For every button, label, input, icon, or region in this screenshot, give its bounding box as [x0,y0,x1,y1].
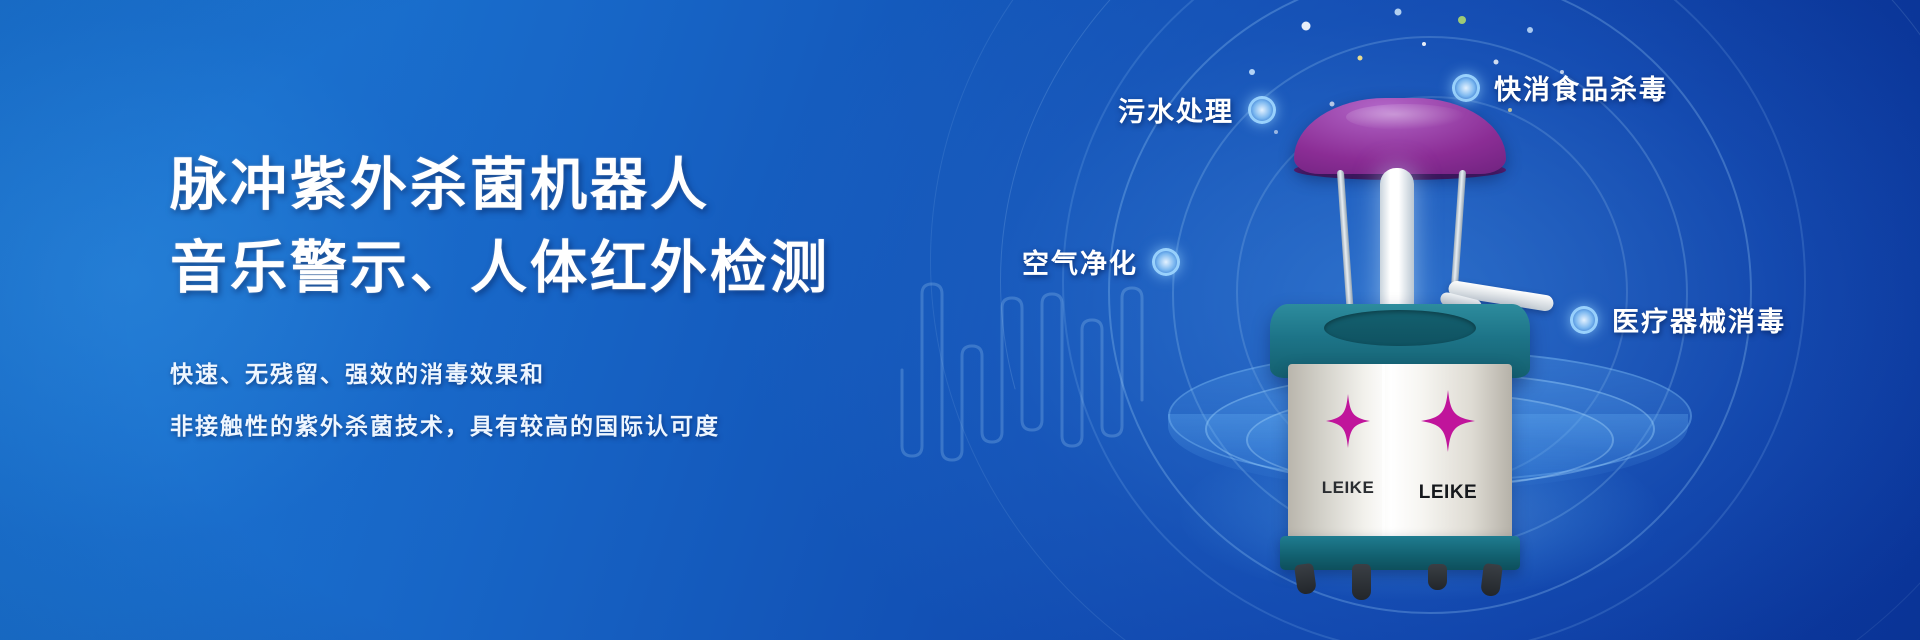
brand-name-text: LEIKE [1419,482,1477,503]
node-marker-icon [1152,248,1180,276]
feature-label-wastewater: 污水处理 [1118,90,1276,129]
feature-label-medical: 医疗器械消毒 [1570,300,1786,339]
feature-label-text: 医疗器械消毒 [1612,300,1786,339]
node-marker-icon [1570,306,1598,334]
feature-label-text: 空气净化 [1022,242,1138,281]
caster-wheel [1428,564,1447,590]
uv-disinfection-robot: LEIKE LEIKE [1270,98,1530,578]
headline-primary: 脉冲紫外杀菌机器人 [170,150,830,223]
feature-label-air: 空气净化 [1022,242,1180,281]
brand-name-text: LEIKE [1322,478,1375,497]
uv-lamp-tube [1380,168,1414,316]
uv-reflector-dome [1294,98,1506,174]
headline-secondary: 音乐警示、人体红外检测 [170,233,830,306]
caster-wheel [1352,564,1371,600]
caster-wheel [1294,563,1317,595]
feature-label-text: 污水处理 [1118,90,1234,129]
subcopy-line-2: 非接触性的紫外杀菌技术，具有较高的国际认可度 [170,404,830,450]
dome-highlight [1346,104,1466,130]
subcopy-line-1: 快速、无残留、强效的消毒效果和 [170,352,830,398]
four-point-star-icon [1421,390,1475,452]
brand-mark-left: LEIKE [1298,394,1398,498]
four-point-star-icon [1326,394,1370,448]
copy-block: 脉冲紫外杀菌机器人 音乐警示、人体红外检测 快速、无残留、强效的消毒效果和 非接… [170,150,830,450]
hero-banner: 脉冲紫外杀菌机器人 音乐警示、人体红外检测 快速、无残留、强效的消毒效果和 非接… [0,0,1920,640]
brand-mark-right: LEIKE [1398,390,1498,504]
caster-wheel [1480,563,1503,597]
lamp-strut-left [1337,170,1354,318]
waveform-graphic [900,250,1190,480]
device-top-recess [1324,310,1476,346]
